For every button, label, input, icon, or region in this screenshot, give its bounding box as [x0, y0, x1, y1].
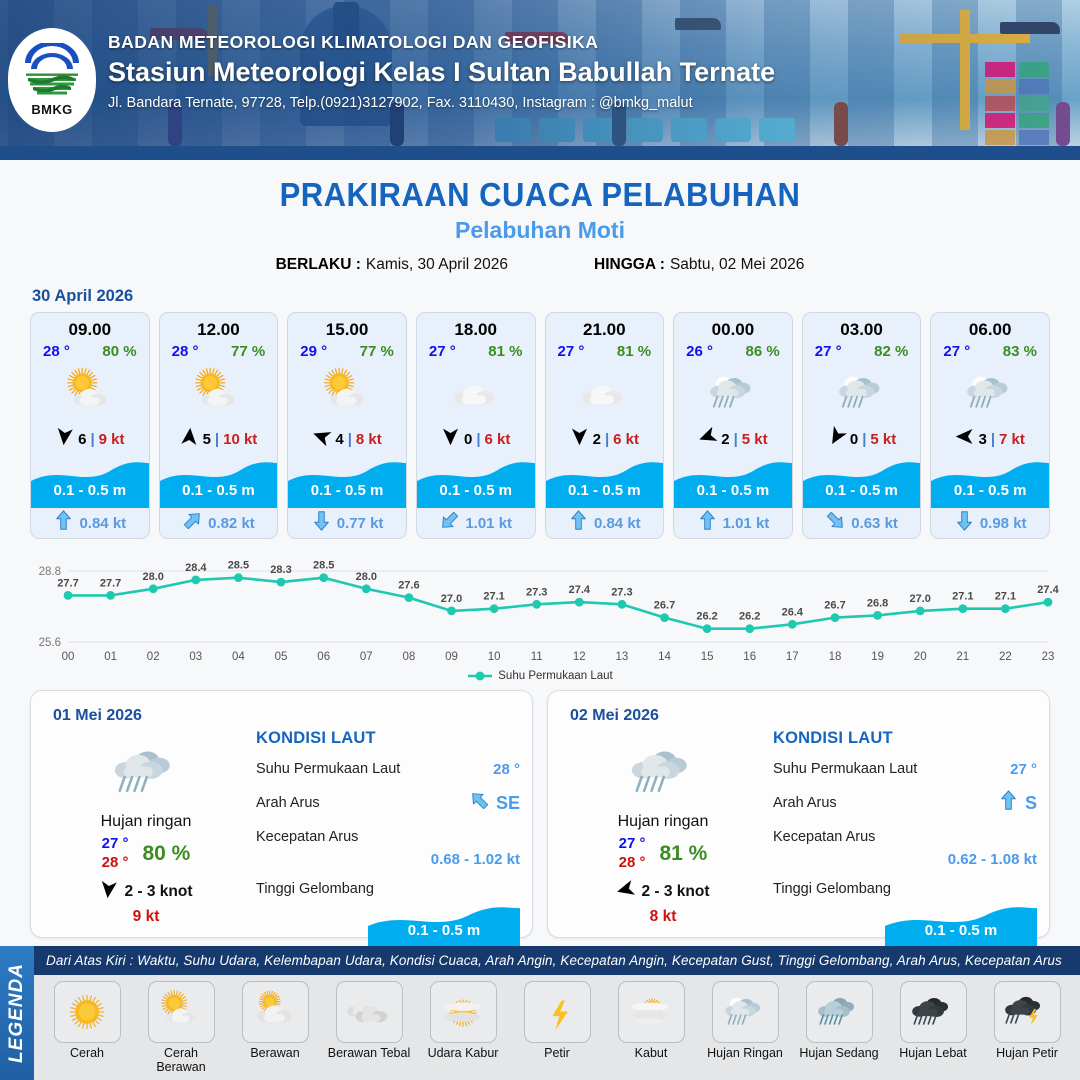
- card-wave-block: 0.1 - 0.5 m: [417, 454, 535, 508]
- current-speed-value: 0.68 - 1.02 kt: [256, 851, 520, 868]
- legend-item[interactable]: Hujan Petir: [984, 981, 1070, 1074]
- day-sea-conditions: KONDISI LAUT Suhu Permukaan Laut 27 ° Ar…: [773, 729, 1037, 947]
- legend-tab-label: LEGENDA: [6, 963, 28, 1063]
- svg-text:03: 03: [189, 651, 202, 663]
- card-wind-row: 2 | 6 kt: [546, 424, 664, 454]
- sea-conditions-title: KONDISI LAUT: [256, 729, 520, 748]
- header-text-block: BADAN METEOROLOGI KLIMATOLOGI DAN GEOFIS…: [108, 32, 775, 111]
- hourly-forecast-cards: 09.00 28 ° 80 % 6 | 9 kt 0.1 - 0.5 m 0.8…: [0, 312, 1080, 539]
- svg-text:26.2: 26.2: [739, 611, 760, 623]
- svg-text:27.4: 27.4: [569, 584, 591, 596]
- current-direction-value: SE: [496, 793, 520, 814]
- current-speed-label: Kecepatan Arus: [773, 829, 875, 845]
- svg-text:11: 11: [531, 651, 543, 663]
- chart-legend: Suhu Permukaan Laut: [0, 670, 1080, 682]
- card-current-row: 0.98 kt: [931, 508, 1049, 538]
- legend-items: Cerah Cerah Berawan Berawan Berawan Teba…: [34, 975, 1080, 1074]
- card-temperature: 29 °: [300, 343, 327, 360]
- current-speed-row: Kecepatan Arus: [256, 825, 520, 849]
- day-condition: Hujan ringan: [558, 813, 768, 831]
- card-humidity: 86 %: [746, 343, 780, 360]
- card-wind-row: 5 | 10 kt: [160, 424, 278, 454]
- wind-direction-arrow-icon: [441, 427, 460, 451]
- legend-item[interactable]: Berawan: [232, 981, 318, 1074]
- day-condition: Hujan ringan: [41, 813, 251, 831]
- card-humidity: 83 %: [1003, 343, 1037, 360]
- valid-to: HINGGA :Sabtu, 02 Mei 2026: [594, 256, 804, 274]
- legend-item-label: Hujan Sedang: [796, 1046, 882, 1060]
- current-direction-arrow-icon: [697, 510, 718, 536]
- wind-direction-arrow-icon: [698, 427, 717, 451]
- current-direction-row: Arah Arus SE: [256, 790, 520, 816]
- day-wave-value: 0.1 - 0.5 m: [368, 922, 520, 939]
- header-bottom-band: [0, 146, 1080, 160]
- current-direction-value-group: S: [998, 790, 1037, 816]
- card-temperature: 27 °: [943, 343, 970, 360]
- validity-row: BERLAKU :Kamis, 30 April 2026 HINGGA :Sa…: [0, 256, 1080, 274]
- card-wave-height: 0.1 - 0.5 m: [674, 482, 792, 499]
- card-temp-humidity: 28 ° 80 %: [31, 340, 149, 360]
- wind-direction-arrow-icon: [312, 427, 331, 451]
- card-wave-height: 0.1 - 0.5 m: [803, 482, 921, 499]
- card-current-speed: 1.01 kt: [465, 515, 512, 532]
- legend-icon-thunderstorm: [994, 981, 1061, 1043]
- svg-text:12: 12: [573, 651, 586, 663]
- wind-direction-arrow-icon: [55, 427, 74, 451]
- day-temp-max: 28 °: [102, 854, 129, 873]
- wind-direction-arrow-icon: [180, 427, 199, 451]
- legend-item[interactable]: Berawan Tebal: [326, 981, 412, 1074]
- card-wind-row: 6 | 9 kt: [31, 424, 149, 454]
- station-contact: Jl. Bandara Ternate, 97728, Telp.(0921)3…: [108, 95, 775, 111]
- sst-row: Suhu Permukaan Laut 28 °: [256, 757, 520, 781]
- sst-row: Suhu Permukaan Laut 27 °: [773, 757, 1037, 781]
- legend-item-label: Petir: [514, 1046, 600, 1060]
- day-date: 02 Mei 2026: [570, 707, 659, 725]
- card-current-speed: 0.77 kt: [337, 515, 384, 532]
- current-direction-arrow-icon: [825, 510, 846, 536]
- legend-item-label: Hujan Ringan: [702, 1046, 788, 1060]
- card-wave-block: 0.1 - 0.5 m: [160, 454, 278, 508]
- current-direction-arrow-icon: [53, 510, 74, 536]
- current-direction-arrow-icon: [568, 510, 589, 536]
- current-speed-row: Kecepatan Arus: [773, 825, 1037, 849]
- card-weather-icon-light-rain: [931, 362, 1049, 424]
- day-current-direction-arrow-icon: [998, 790, 1019, 816]
- chart-legend-marker: [467, 670, 493, 682]
- sst-label: Suhu Permukaan Laut: [773, 761, 917, 777]
- svg-text:27.3: 27.3: [526, 586, 547, 598]
- wind-direction-arrow-icon: [827, 427, 846, 451]
- valid-from-label: BERLAKU :: [276, 256, 361, 273]
- wind-separator: |: [90, 431, 94, 448]
- current-speed-label: Kecepatan Arus: [256, 829, 358, 845]
- current-direction-arrow-icon: [182, 510, 203, 536]
- card-temp-humidity: 27 ° 83 %: [931, 340, 1049, 360]
- sst-value: 27 °: [1010, 761, 1037, 778]
- card-weather-icon-partly-cloudy: [288, 362, 406, 424]
- sst-value: 28 °: [493, 761, 520, 778]
- current-speed-value: 0.62 - 1.08 kt: [773, 851, 1037, 868]
- title-block: PRAKIRAAN CUACA PELABUHAN Pelabuhan Moti…: [0, 176, 1080, 274]
- page-title: PRAKIRAAN CUACA PELABUHAN: [32, 176, 1047, 214]
- day-left-block: Hujan ringan 27 ° 28 ° 80 % 2 - 3 knot 9…: [41, 733, 251, 926]
- svg-text:27.0: 27.0: [441, 593, 462, 605]
- card-wind-speed: 6 kt: [485, 431, 511, 448]
- day-weather-icon-light-rain: [558, 733, 768, 811]
- day-current-direction-arrow-icon: [469, 790, 490, 816]
- current-direction-arrow-icon: [311, 510, 332, 536]
- svg-text:27.1: 27.1: [483, 591, 504, 603]
- svg-text:10: 10: [488, 651, 501, 663]
- card-wave-block: 0.1 - 0.5 m: [931, 454, 1049, 508]
- legend-item-label: Berawan Tebal: [326, 1046, 412, 1060]
- day-temp-min: 27 °: [619, 835, 646, 854]
- day-temp-column: 27 ° 28 °: [102, 835, 129, 873]
- day-temp-column: 27 ° 28 °: [619, 835, 646, 873]
- legend-icon-haze: [430, 981, 497, 1043]
- svg-text:28.3: 28.3: [270, 564, 291, 576]
- current-direction-arrow-icon: [439, 510, 460, 536]
- legend-icon-cloudy-sun: [242, 981, 309, 1043]
- card-temperature: 27 °: [429, 343, 456, 360]
- svg-text:17: 17: [786, 651, 799, 663]
- legend-item[interactable]: Hujan Ringan: [702, 981, 788, 1074]
- station-name: Stasiun Meteorologi Kelas I Sultan Babul…: [108, 57, 775, 88]
- sst-label: Suhu Permukaan Laut: [256, 761, 400, 777]
- legend-section: LEGENDA Dari Atas Kiri : Waktu, Suhu Uda…: [0, 946, 1080, 1080]
- card-current-speed: 0.84 kt: [594, 515, 641, 532]
- svg-text:26.7: 26.7: [654, 600, 675, 612]
- wind-separator: |: [862, 431, 866, 448]
- svg-text:28.0: 28.0: [356, 571, 377, 583]
- card-wind-direction: 4: [335, 431, 343, 448]
- wind-separator: |: [991, 431, 995, 448]
- legend-item-label: Berawan: [232, 1046, 318, 1060]
- card-temp-humidity: 26 ° 86 %: [674, 340, 792, 360]
- legend-item-label: Kabut: [608, 1046, 694, 1060]
- port-name: Pelabuhan Moti: [0, 217, 1080, 244]
- forecast-card[interactable]: 21.00 27 ° 81 % 2 | 6 kt 0.1 - 0.5 m 0.8…: [545, 312, 665, 539]
- forecast-date-label: 30 April 2026: [32, 287, 1080, 306]
- card-wind-speed: 8 kt: [356, 431, 382, 448]
- svg-text:21: 21: [956, 651, 969, 663]
- card-wind-speed: 6 kt: [613, 431, 639, 448]
- forecast-card[interactable]: 12.00 28 ° 77 % 5 | 10 kt 0.1 - 0.5 m 0.…: [159, 312, 279, 539]
- agency-name: BADAN METEOROLOGI KLIMATOLOGI DAN GEOFIS…: [108, 32, 775, 53]
- card-current-row: 1.01 kt: [674, 508, 792, 538]
- day-wind-row: 2 - 3 knot: [558, 880, 768, 904]
- wind-separator: |: [605, 431, 609, 448]
- card-current-row: 0.84 kt: [546, 508, 664, 538]
- card-wind-direction: 0: [464, 431, 472, 448]
- svg-text:28.4: 28.4: [185, 562, 207, 574]
- day-temp-humidity: 27 ° 28 ° 80 %: [41, 835, 251, 873]
- card-wave-block: 0.1 - 0.5 m: [674, 454, 792, 508]
- svg-text:08: 08: [403, 651, 416, 663]
- svg-text:26.2: 26.2: [696, 611, 717, 623]
- card-time: 18.00: [417, 313, 535, 340]
- bmkg-logo-mark: [21, 43, 83, 101]
- legend-icon-partly-cloudy: [148, 981, 215, 1043]
- wind-direction-arrow-icon: [955, 427, 974, 451]
- card-current-speed: 0.98 kt: [980, 515, 1027, 532]
- card-current-row: 0.82 kt: [160, 508, 278, 538]
- svg-text:05: 05: [275, 651, 288, 663]
- card-temp-humidity: 27 ° 82 %: [803, 340, 921, 360]
- card-wave-block: 0.1 - 0.5 m: [31, 454, 149, 508]
- day-humidity: 80 %: [142, 842, 190, 866]
- svg-text:20: 20: [914, 651, 927, 663]
- day-left-block: Hujan ringan 27 ° 28 ° 81 % 2 - 3 knot 8…: [558, 733, 768, 926]
- day-temp-min: 27 °: [102, 835, 129, 854]
- chart-svg: 28.8 25.6 27.727.728.028.428.528.328.528…: [20, 553, 1060, 668]
- svg-text:28.5: 28.5: [228, 560, 249, 572]
- wind-separator: |: [215, 431, 219, 448]
- svg-text:28.5: 28.5: [313, 560, 334, 572]
- day-wind-range: 2 - 3 knot: [641, 883, 709, 901]
- svg-text:26.8: 26.8: [867, 597, 888, 609]
- svg-text:27.6: 27.6: [398, 580, 419, 592]
- svg-text:27.0: 27.0: [909, 593, 930, 605]
- card-humidity: 82 %: [874, 343, 908, 360]
- svg-text:27.7: 27.7: [100, 577, 121, 589]
- card-wave-block: 0.1 - 0.5 m: [546, 454, 664, 508]
- legend-icon-overcast: [336, 981, 403, 1043]
- card-current-row: 0.63 kt: [803, 508, 921, 538]
- card-time: 00.00: [674, 313, 792, 340]
- card-wind-speed: 5 kt: [870, 431, 896, 448]
- card-temperature: 27 °: [558, 343, 585, 360]
- current-direction-arrow-icon: [954, 510, 975, 536]
- sea-conditions-title: KONDISI LAUT: [773, 729, 1037, 748]
- card-weather-icon-light-rain: [674, 362, 792, 424]
- day-sea-conditions: KONDISI LAUT Suhu Permukaan Laut 28 ° Ar…: [256, 729, 520, 947]
- svg-text:16: 16: [743, 651, 756, 663]
- card-wave-height: 0.1 - 0.5 m: [546, 482, 664, 499]
- day-wind-row: 2 - 3 knot: [41, 880, 251, 904]
- svg-text:02: 02: [147, 651, 160, 663]
- legend-item[interactable]: Cerah: [44, 981, 130, 1074]
- legend-item-label: Cerah Berawan: [138, 1046, 224, 1074]
- svg-text:13: 13: [616, 651, 629, 663]
- card-weather-icon-partly-cloudy: [160, 362, 278, 424]
- card-temp-humidity: 28 ° 77 %: [160, 340, 278, 360]
- legend-item-label: Cerah: [44, 1046, 130, 1060]
- card-time: 15.00: [288, 313, 406, 340]
- card-temperature: 27 °: [815, 343, 842, 360]
- valid-to-label: HINGGA :: [594, 256, 665, 273]
- legend-item-label: Hujan Lebat: [890, 1046, 976, 1060]
- legend-icon-light-rain: [712, 981, 779, 1043]
- wind-direction-arrow-icon: [570, 427, 589, 451]
- card-weather-icon-light-rain: [803, 362, 921, 424]
- svg-text:28.8: 28.8: [39, 566, 61, 578]
- card-temperature: 28 °: [43, 343, 70, 360]
- legend-item[interactable]: Cerah Berawan: [138, 981, 224, 1074]
- wind-separator: |: [476, 431, 480, 448]
- svg-text:15: 15: [701, 651, 714, 663]
- card-wave-height: 0.1 - 0.5 m: [31, 482, 149, 499]
- daily-summary-panel[interactable]: 02 Mei 2026 Hujan ringan 27 ° 28 ° 81 %: [547, 690, 1050, 938]
- svg-text:27.1: 27.1: [952, 591, 973, 603]
- card-current-row: 0.77 kt: [288, 508, 406, 538]
- day-wave-block: 0.1 - 0.5 m: [885, 897, 1037, 947]
- legend-note: Dari Atas Kiri : Waktu, Suhu Udara, Kele…: [34, 946, 1080, 975]
- card-wind-direction: 2: [721, 431, 729, 448]
- svg-text:28.0: 28.0: [142, 571, 163, 583]
- svg-text:23: 23: [1042, 651, 1055, 663]
- card-humidity: 77 %: [231, 343, 265, 360]
- day-temp-max: 28 °: [619, 854, 646, 873]
- valid-from-value: Kamis, 30 April 2026: [366, 256, 508, 273]
- svg-text:27.4: 27.4: [1037, 584, 1059, 596]
- card-wave-height: 0.1 - 0.5 m: [288, 482, 406, 499]
- card-wind-row: 0 | 6 kt: [417, 424, 535, 454]
- legend-tab: LEGENDA: [0, 946, 34, 1080]
- day-humidity: 81 %: [659, 842, 707, 866]
- forecast-card[interactable]: 18.00 27 ° 81 % 0 | 6 kt 0.1 - 0.5 m 1.0…: [416, 312, 536, 539]
- forecast-card[interactable]: 00.00 26 ° 86 % 2 | 5 kt 0.1 - 0.5 m: [673, 312, 793, 539]
- day-gust: 9 kt: [41, 908, 251, 926]
- bmkg-logo-text: BMKG: [31, 102, 72, 117]
- card-wind-row: 2 | 5 kt: [674, 424, 792, 454]
- card-wave-block: 0.1 - 0.5 m: [803, 454, 921, 508]
- svg-text:22: 22: [999, 651, 1012, 663]
- wave-height-label: Tinggi Gelombang: [773, 881, 891, 897]
- svg-text:00: 00: [62, 651, 75, 663]
- card-wind-row: 3 | 7 kt: [931, 424, 1049, 454]
- daily-summary-panel[interactable]: 01 Mei 2026 Hujan ringan 27 ° 28 ° 80 %: [30, 690, 533, 938]
- svg-text:26.7: 26.7: [824, 600, 845, 612]
- card-wind-speed: 9 kt: [99, 431, 125, 448]
- card-temp-humidity: 27 ° 81 %: [546, 340, 664, 360]
- legend-icon-sunny: [54, 981, 121, 1043]
- svg-text:27.3: 27.3: [611, 586, 632, 598]
- legend-icon-lightning: [524, 981, 591, 1043]
- day-weather-icon-light-rain: [41, 733, 251, 811]
- legend-item[interactable]: Petir: [514, 981, 600, 1074]
- card-humidity: 77 %: [360, 343, 394, 360]
- card-time: 21.00: [546, 313, 664, 340]
- card-wave-height: 0.1 - 0.5 m: [931, 482, 1049, 499]
- svg-text:01: 01: [104, 651, 117, 663]
- legend-body: Dari Atas Kiri : Waktu, Suhu Udara, Kele…: [34, 946, 1080, 1080]
- card-humidity: 81 %: [617, 343, 651, 360]
- svg-text:27.1: 27.1: [995, 591, 1016, 603]
- svg-text:27.7: 27.7: [57, 577, 78, 589]
- legend-item[interactable]: Udara Kabur: [420, 981, 506, 1074]
- forecast-card[interactable]: 03.00 27 ° 82 % 0 | 5 kt 0.1 - 0.5 m: [802, 312, 922, 539]
- card-wind-speed: 5 kt: [742, 431, 768, 448]
- day-wind-direction-arrow-icon: [616, 880, 635, 904]
- card-wind-direction: 3: [978, 431, 986, 448]
- card-wind-speed: 7 kt: [999, 431, 1025, 448]
- card-current-speed: 0.82 kt: [208, 515, 255, 532]
- card-time: 09.00: [31, 313, 149, 340]
- legend-icon-fog: [618, 981, 685, 1043]
- day-wave-value: 0.1 - 0.5 m: [885, 922, 1037, 939]
- forecast-card[interactable]: 15.00 29 ° 77 % 4 | 8 kt 0.1 - 0.5 m 0.7…: [287, 312, 407, 539]
- current-direction-value: S: [1025, 793, 1037, 814]
- card-wind-direction: 0: [850, 431, 858, 448]
- sea-temperature-chart: 28.8 25.6 27.727.728.028.428.528.328.528…: [20, 553, 1060, 668]
- valid-to-value: Sabtu, 02 Mei 2026: [670, 256, 804, 273]
- card-wind-speed: 10 kt: [223, 431, 257, 448]
- card-weather-icon-partly-cloudy: [31, 362, 149, 424]
- legend-item[interactable]: Kabut: [608, 981, 694, 1074]
- card-wind-row: 4 | 8 kt: [288, 424, 406, 454]
- valid-from: BERLAKU :Kamis, 30 April 2026: [276, 256, 508, 274]
- card-wind-row: 0 | 5 kt: [803, 424, 921, 454]
- day-wind-direction-arrow-icon: [99, 880, 118, 904]
- legend-item[interactable]: Hujan Lebat: [890, 981, 976, 1074]
- svg-text:19: 19: [871, 651, 884, 663]
- card-humidity: 81 %: [488, 343, 522, 360]
- wave-height-label: Tinggi Gelombang: [256, 881, 374, 897]
- card-wave-height: 0.1 - 0.5 m: [417, 482, 535, 499]
- card-current-row: 0.84 kt: [31, 508, 149, 538]
- chart-legend-label: Suhu Permukaan Laut: [498, 670, 612, 682]
- wind-separator: |: [348, 431, 352, 448]
- card-wind-direction: 5: [203, 431, 211, 448]
- card-wave-height: 0.1 - 0.5 m: [160, 482, 278, 499]
- card-weather-icon-cloudy: [546, 362, 664, 424]
- card-wind-direction: 6: [78, 431, 86, 448]
- card-temperature: 26 °: [686, 343, 713, 360]
- svg-text:07: 07: [360, 651, 373, 663]
- forecast-card[interactable]: 06.00 27 ° 83 % 3 | 7 kt 0.1 - 0.5 m: [930, 312, 1050, 539]
- svg-text:09: 09: [445, 651, 458, 663]
- card-humidity: 80 %: [102, 343, 136, 360]
- card-temperature: 28 °: [172, 343, 199, 360]
- card-current-speed: 0.63 kt: [851, 515, 898, 532]
- card-time: 12.00: [160, 313, 278, 340]
- current-direction-value-group: SE: [469, 790, 520, 816]
- card-current-speed: 1.01 kt: [723, 515, 770, 532]
- current-direction-row: Arah Arus S: [773, 790, 1037, 816]
- wind-separator: |: [734, 431, 738, 448]
- day-temp-humidity: 27 ° 28 ° 81 %: [558, 835, 768, 873]
- legend-icon-moderate-rain: [806, 981, 873, 1043]
- legend-icon-heavy-rain: [900, 981, 967, 1043]
- current-direction-label: Arah Arus: [256, 795, 320, 811]
- legend-item[interactable]: Hujan Sedang: [796, 981, 882, 1074]
- card-current-speed: 0.84 kt: [79, 515, 126, 532]
- daily-summary-panels: 01 Mei 2026 Hujan ringan 27 ° 28 ° 80 %: [0, 682, 1080, 938]
- card-wind-direction: 2: [593, 431, 601, 448]
- forecast-page: BMKG BADAN METEOROLOGI KLIMATOLOGI DAN G…: [0, 0, 1080, 1080]
- day-gust: 8 kt: [558, 908, 768, 926]
- svg-text:25.6: 25.6: [39, 637, 61, 649]
- page-header: BMKG BADAN METEOROLOGI KLIMATOLOGI DAN G…: [0, 0, 1080, 160]
- legend-item-label: Hujan Petir: [984, 1046, 1070, 1060]
- day-date: 01 Mei 2026: [53, 707, 142, 725]
- svg-text:06: 06: [317, 651, 330, 663]
- legend-item-label: Udara Kabur: [420, 1046, 506, 1060]
- card-time: 06.00: [931, 313, 1049, 340]
- current-direction-label: Arah Arus: [773, 795, 837, 811]
- card-wave-block: 0.1 - 0.5 m: [288, 454, 406, 508]
- card-current-row: 1.01 kt: [417, 508, 535, 538]
- card-time: 03.00: [803, 313, 921, 340]
- svg-text:04: 04: [232, 651, 245, 663]
- forecast-card[interactable]: 09.00 28 ° 80 % 6 | 9 kt 0.1 - 0.5 m 0.8…: [30, 312, 150, 539]
- svg-text:18: 18: [829, 651, 842, 663]
- svg-text:26.4: 26.4: [782, 606, 804, 618]
- svg-text:14: 14: [658, 651, 671, 663]
- card-weather-icon-cloudy: [417, 362, 535, 424]
